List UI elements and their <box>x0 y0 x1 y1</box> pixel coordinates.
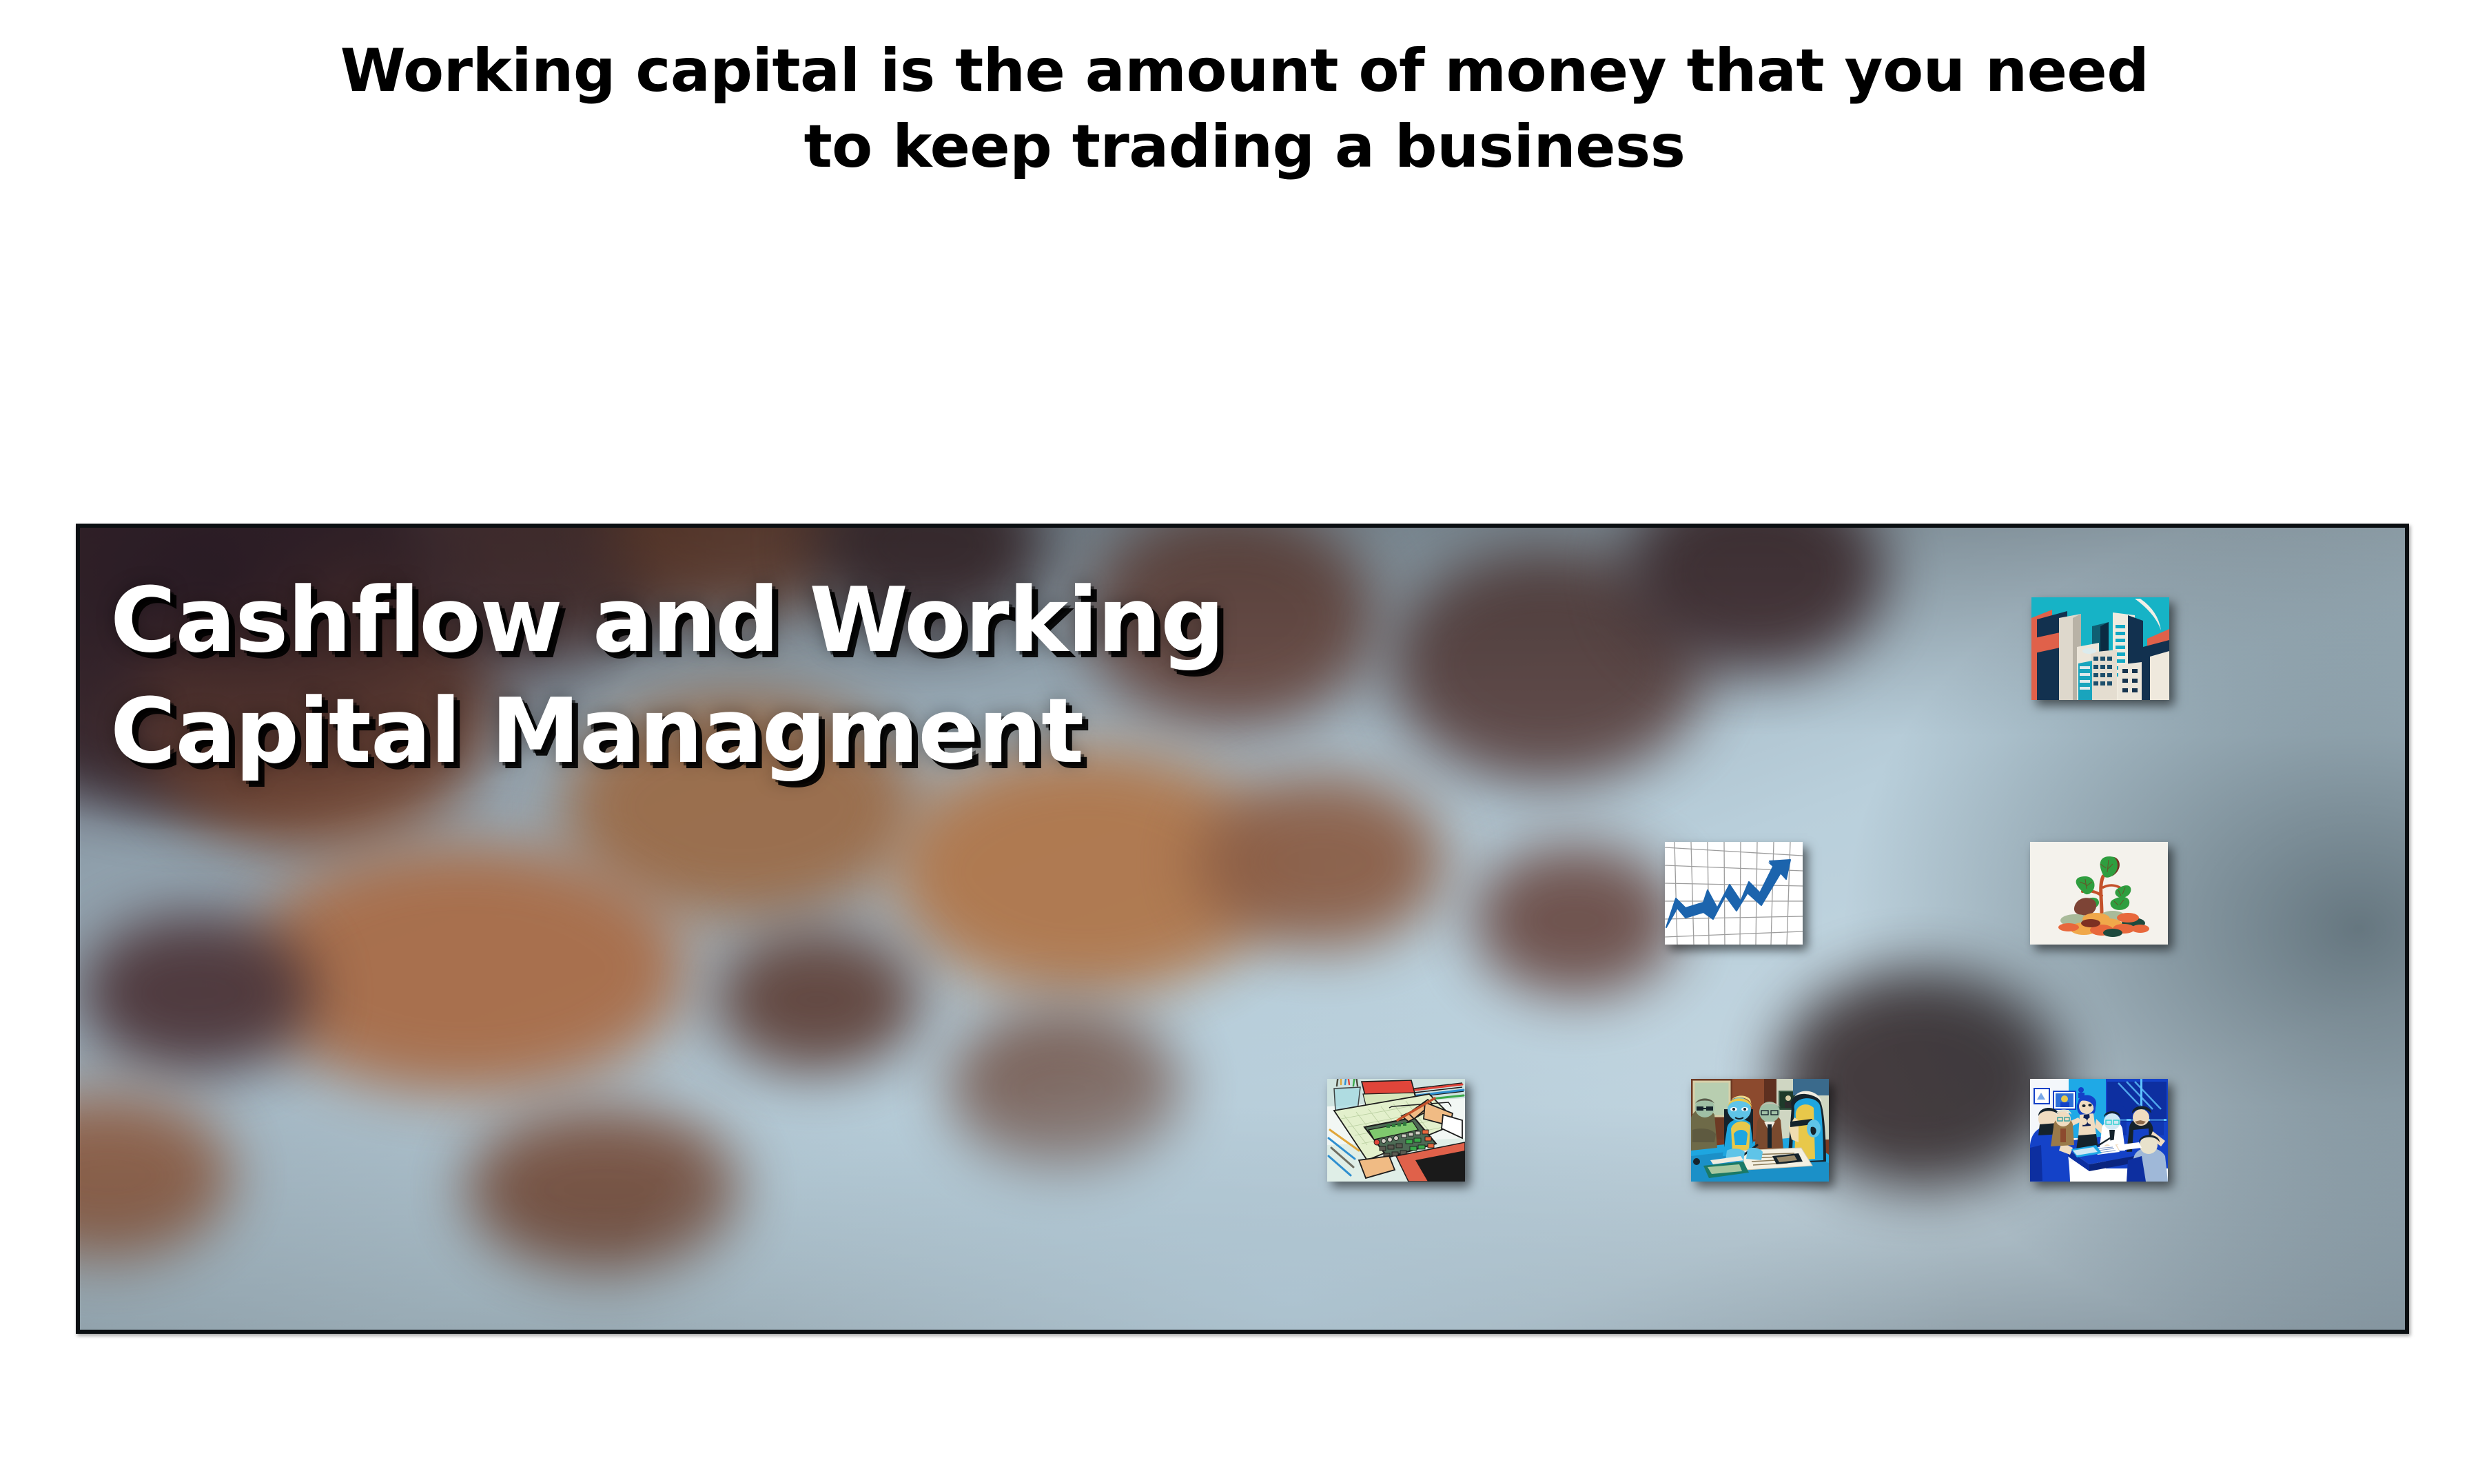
thumbnail-office-boardroom[interactable] <box>2030 1079 2168 1182</box>
banner-title: Cashflow and Working Capital Managment <box>110 565 1523 787</box>
thumbnail-city-skyline[interactable] <box>2031 597 2169 700</box>
thumbnail-business-meeting[interactable] <box>1691 1079 1829 1182</box>
thumbnail-desk-calculator[interactable] <box>1327 1079 1465 1182</box>
thumbnail-growth-chart[interactable] <box>1665 842 1803 945</box>
business-meeting-icon <box>1691 1079 1829 1182</box>
growth-chart-icon <box>1665 842 1803 945</box>
money-plant-icon <box>2030 842 2168 945</box>
page-title: Working capital is the amount of money t… <box>0 33 2489 185</box>
office-boardroom-icon <box>2030 1079 2168 1182</box>
desk-calculator-icon <box>1327 1079 1465 1182</box>
city-skyline-icon <box>2031 597 2169 700</box>
thumbnail-money-plant[interactable] <box>2030 842 2168 945</box>
